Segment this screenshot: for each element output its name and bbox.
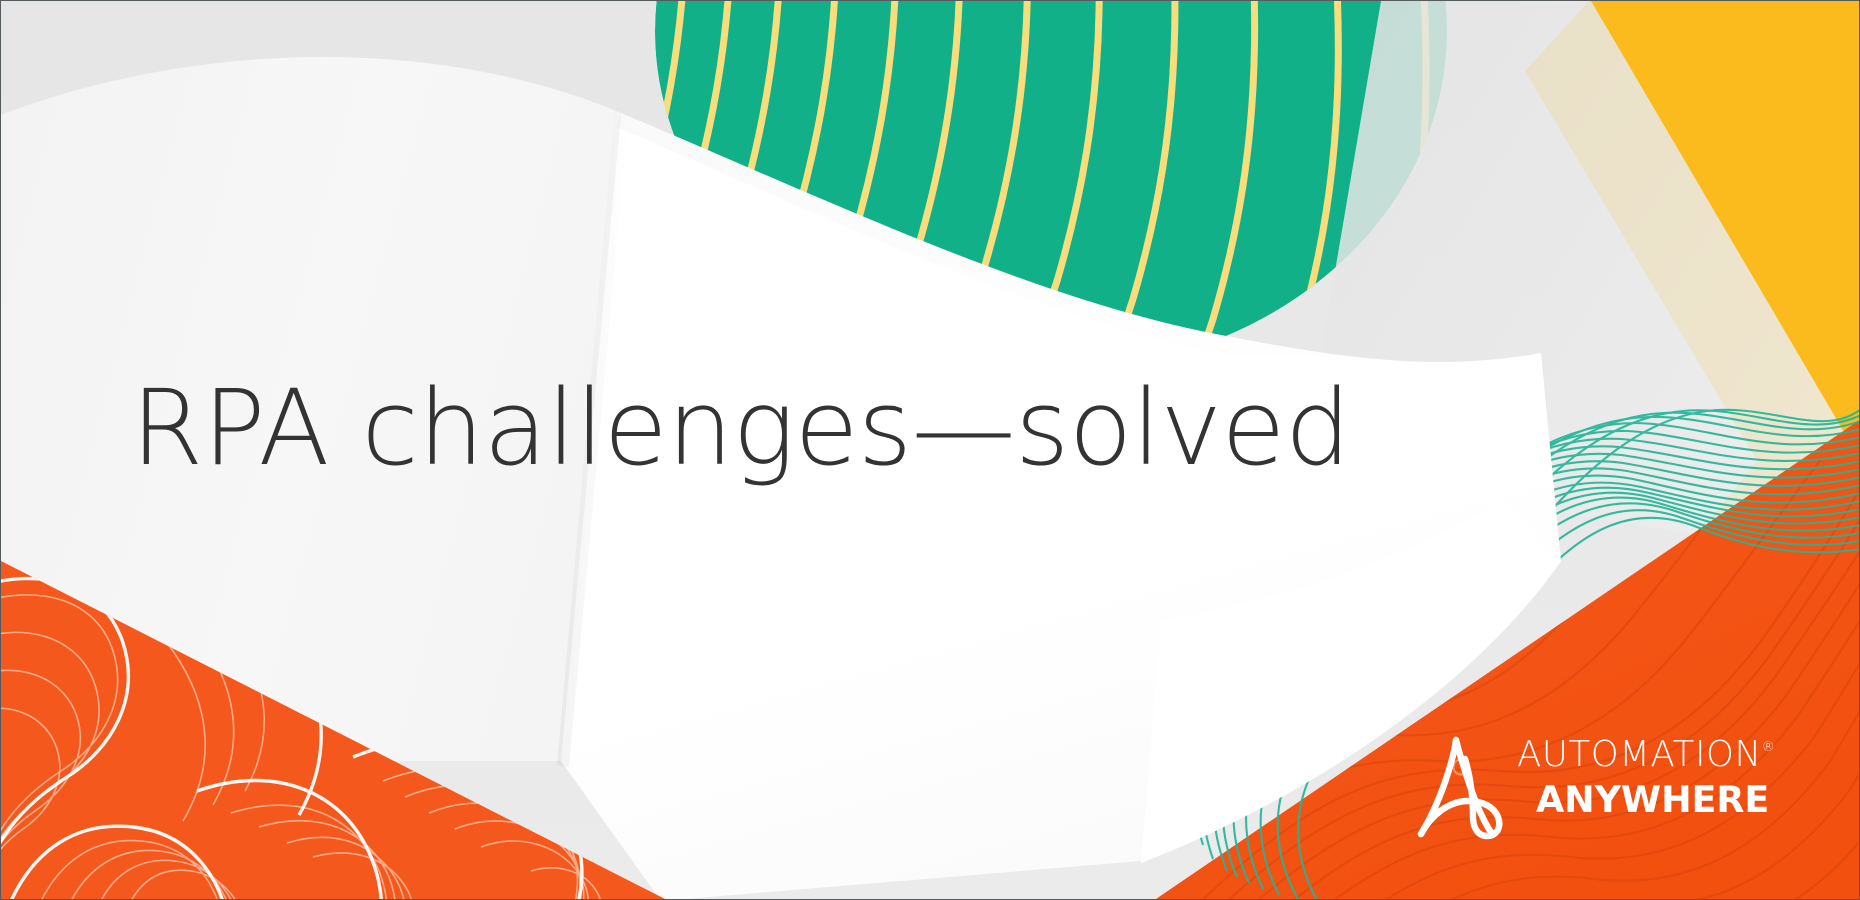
automation-anywhere-logo: AUTOMATION® ANYWHERE: [1413, 729, 1735, 841]
brand-banner: RPA challenges—solved AUTOMATION® ANYWHE…: [0, 0, 1860, 900]
logo-line-anywhere: ANYWHERE: [1536, 782, 1735, 819]
logo-line-automation: AUTOMATION®: [1517, 737, 1735, 773]
automation-anywhere-a-mark: [1413, 729, 1509, 841]
logo-wordmark: AUTOMATION® ANYWHERE: [1517, 737, 1735, 818]
registered-trademark-icon: ®: [1762, 740, 1775, 755]
